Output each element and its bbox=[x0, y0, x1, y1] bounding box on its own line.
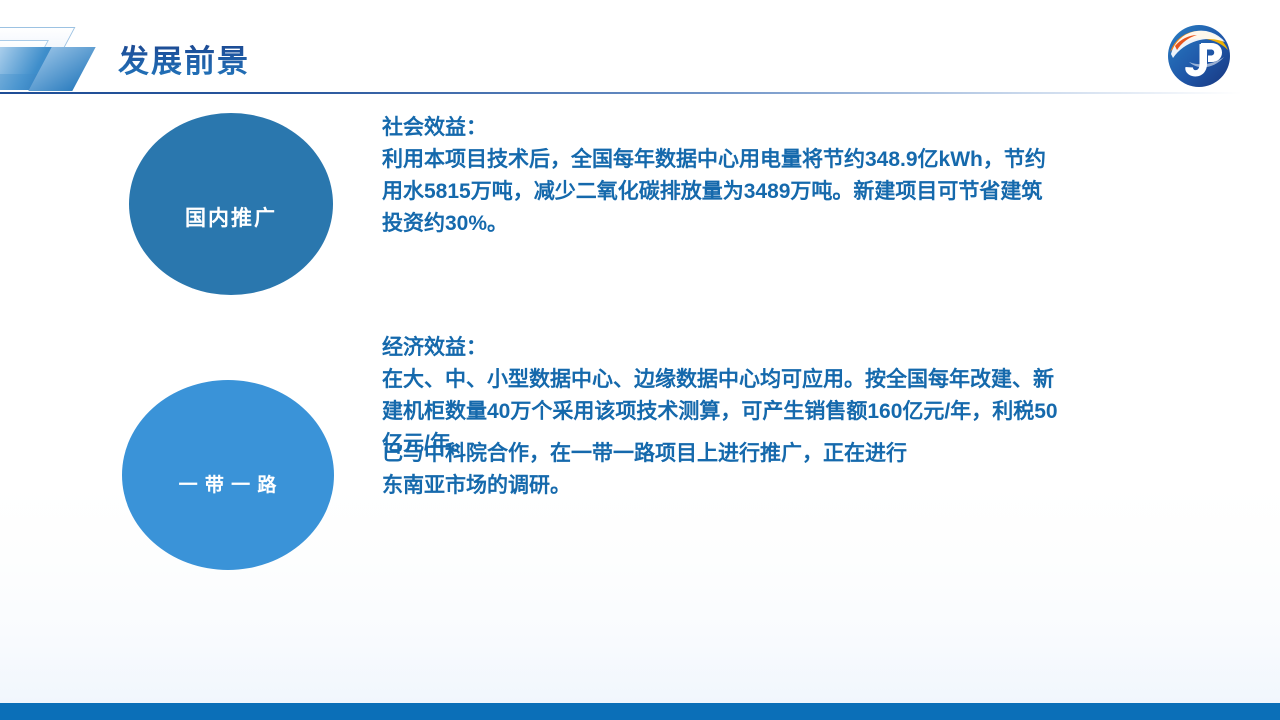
header-divider bbox=[0, 92, 1280, 94]
company-logo-icon bbox=[1167, 24, 1231, 88]
bubble-domestic-promotion[interactable]: 国内推广 bbox=[129, 113, 333, 295]
bubble-belt-and-road[interactable]: 一 带 一 路 bbox=[122, 380, 334, 570]
slide-canvas: 发展前景 bbox=[0, 0, 1280, 720]
bubble-label-belt-and-road: 一 带 一 路 bbox=[179, 470, 278, 497]
footer-bar bbox=[0, 703, 1280, 720]
company-logo bbox=[1167, 24, 1231, 88]
text-social-benefit: 社会效益： 利用本项目技术后，全国每年数据中心用电量将节约348.9亿kWh，节… bbox=[382, 112, 1062, 240]
page-title: 发展前景 bbox=[118, 36, 250, 81]
slide-content: 国内推广 一 带 一 路 社会效益： 利用本项目技术后，全国每年数据中心用电量将… bbox=[0, 96, 1280, 720]
text-belt-and-road: 已与中科院合作，在一带一路项目上进行推广，正在进行 东南亚市场的调研。 bbox=[382, 438, 1062, 502]
slide-header: 发展前景 bbox=[0, 0, 1280, 96]
bubble-label-domestic-promotion: 国内推广 bbox=[185, 202, 277, 232]
